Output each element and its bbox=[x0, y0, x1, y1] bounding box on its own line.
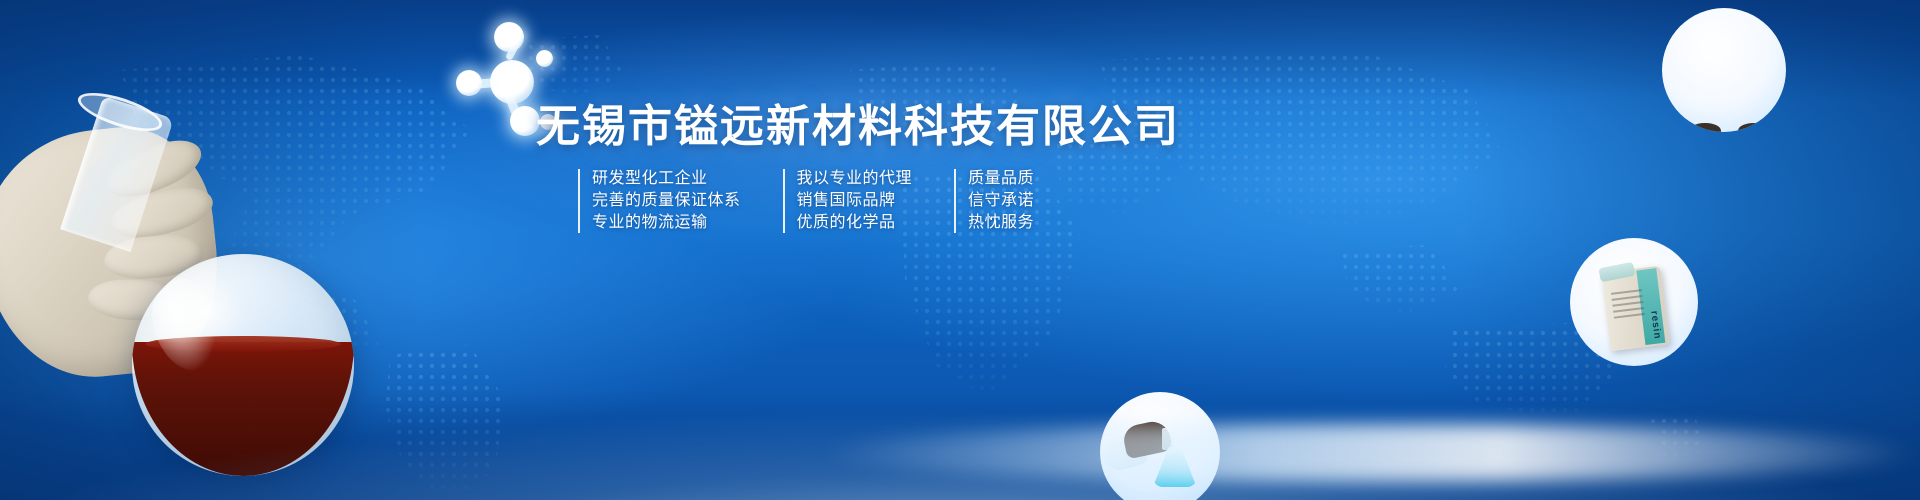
bag-text-line bbox=[1612, 300, 1643, 306]
feature-line: 销售国际品牌 bbox=[797, 190, 913, 212]
flask-neck bbox=[1162, 428, 1173, 450]
feature-column-rd: 研发型化工企业 完善的质量保证体系 专业的物流运输 bbox=[578, 166, 741, 236]
bag-fold bbox=[1598, 261, 1635, 281]
molecule-node bbox=[490, 60, 534, 104]
bag-text-lines bbox=[1611, 288, 1646, 326]
chemical-bag: resin bbox=[1601, 265, 1669, 351]
feature-line: 我以专业的代理 bbox=[797, 168, 913, 190]
feature-columns: 研发型化工企业 完善的质量保证体系 专业的物流运输 我以专业的代理 销售国际品牌… bbox=[578, 166, 1076, 236]
blue-flask-photo bbox=[1100, 392, 1220, 500]
feature-line: 优质的化学品 bbox=[797, 212, 913, 234]
flask-bulb bbox=[132, 254, 354, 476]
molecule-node bbox=[456, 70, 482, 96]
scientists-photo bbox=[1662, 8, 1786, 132]
company-hero-banner: 无锡市镒远新材料科技有限公司 研发型化工企业 完善的质量保证体系 专业的物流运输… bbox=[0, 0, 1920, 500]
resin-bag-badge: resin bbox=[1570, 238, 1698, 366]
molecule-node bbox=[494, 22, 524, 52]
page-title: 无锡市镒远新材料科技有限公司 bbox=[536, 90, 1180, 154]
bag-text-line bbox=[1611, 288, 1642, 294]
gloved-hand-flask-photo bbox=[0, 96, 404, 500]
erlenmeyer-flask-icon bbox=[1153, 447, 1197, 487]
bag-text-line bbox=[1613, 306, 1644, 312]
feature-column-agency: 我以专业的代理 销售国际品牌 优质的化学品 bbox=[783, 166, 913, 236]
scientist-hair bbox=[1689, 123, 1721, 132]
feature-line: 信守承诺 bbox=[968, 190, 1034, 212]
molecule-node bbox=[536, 50, 553, 67]
blue-flask-badge bbox=[1100, 392, 1220, 500]
feature-line: 研发型化工企业 bbox=[592, 168, 741, 190]
feature-line: 质量品质 bbox=[968, 168, 1034, 190]
feature-line: 完善的质量保证体系 bbox=[592, 190, 741, 212]
flask-liquid bbox=[132, 342, 354, 476]
feature-line: 专业的物流运输 bbox=[592, 212, 741, 234]
bag-text-line bbox=[1611, 294, 1642, 300]
feature-line: 热忱服务 bbox=[968, 212, 1034, 234]
feature-column-service: 质量品质 信守承诺 热忱服务 bbox=[954, 166, 1034, 236]
bag-text-line bbox=[1614, 312, 1645, 318]
resin-bag-photo: resin bbox=[1570, 238, 1698, 366]
scientists-badge bbox=[1662, 8, 1786, 132]
